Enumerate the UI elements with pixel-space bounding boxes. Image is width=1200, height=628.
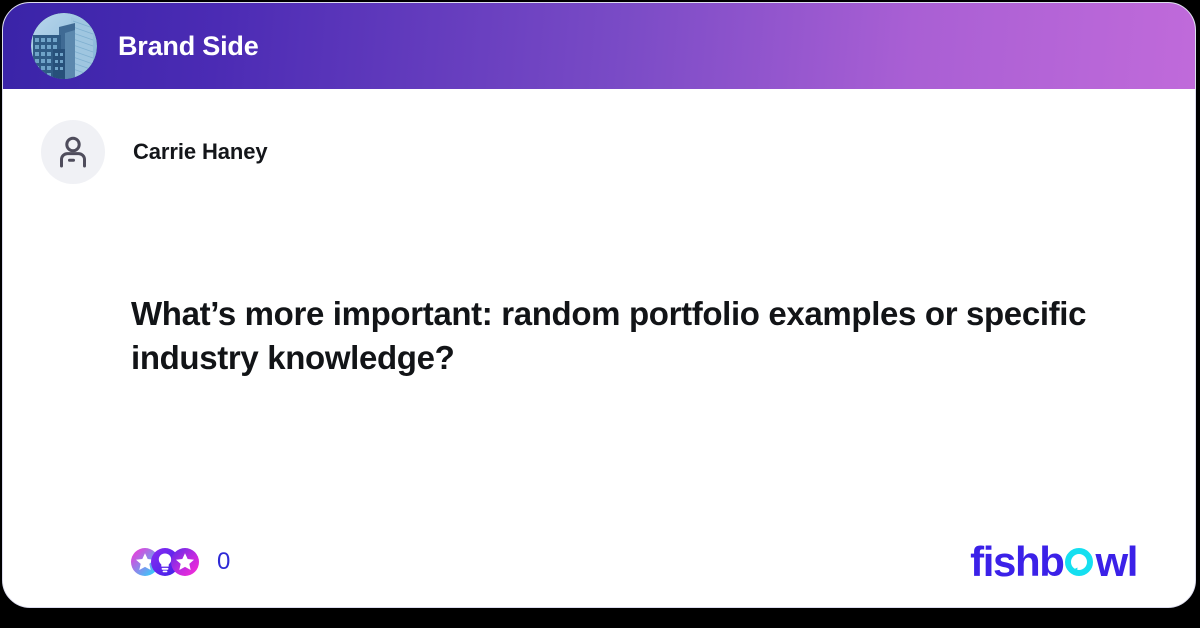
city-skyscrapers-photo <box>31 13 97 79</box>
brand-avatar[interactable] <box>31 13 97 79</box>
card-footer: 0 fishb wl <box>3 535 1195 589</box>
post-card: Brand Side Carrie Haney What’s more impo… <box>2 2 1196 608</box>
author-row[interactable]: Carrie Haney <box>41 120 268 184</box>
card-body: Carrie Haney What’s more important: rand… <box>3 89 1195 607</box>
brand-title: Brand Side <box>118 33 259 60</box>
person-icon <box>55 134 91 170</box>
reaction-count: 0 <box>217 548 230 576</box>
card-header: Brand Side <box>3 3 1195 89</box>
fishbowl-logo[interactable]: fishb wl <box>970 541 1137 583</box>
logo-text-after: wl <box>1095 541 1137 583</box>
logo-text-before: fishb <box>970 541 1063 583</box>
author-name: Carrie Haney <box>133 139 268 165</box>
speech-bubble-o-icon <box>1064 547 1094 577</box>
post-question: What’s more important: random portfolio … <box>131 292 1131 379</box>
avatar[interactable] <box>41 120 105 184</box>
reaction-badge-stack[interactable] <box>131 548 199 576</box>
star-reaction-icon-2[interactable] <box>171 548 199 576</box>
reactions[interactable]: 0 <box>131 548 230 576</box>
